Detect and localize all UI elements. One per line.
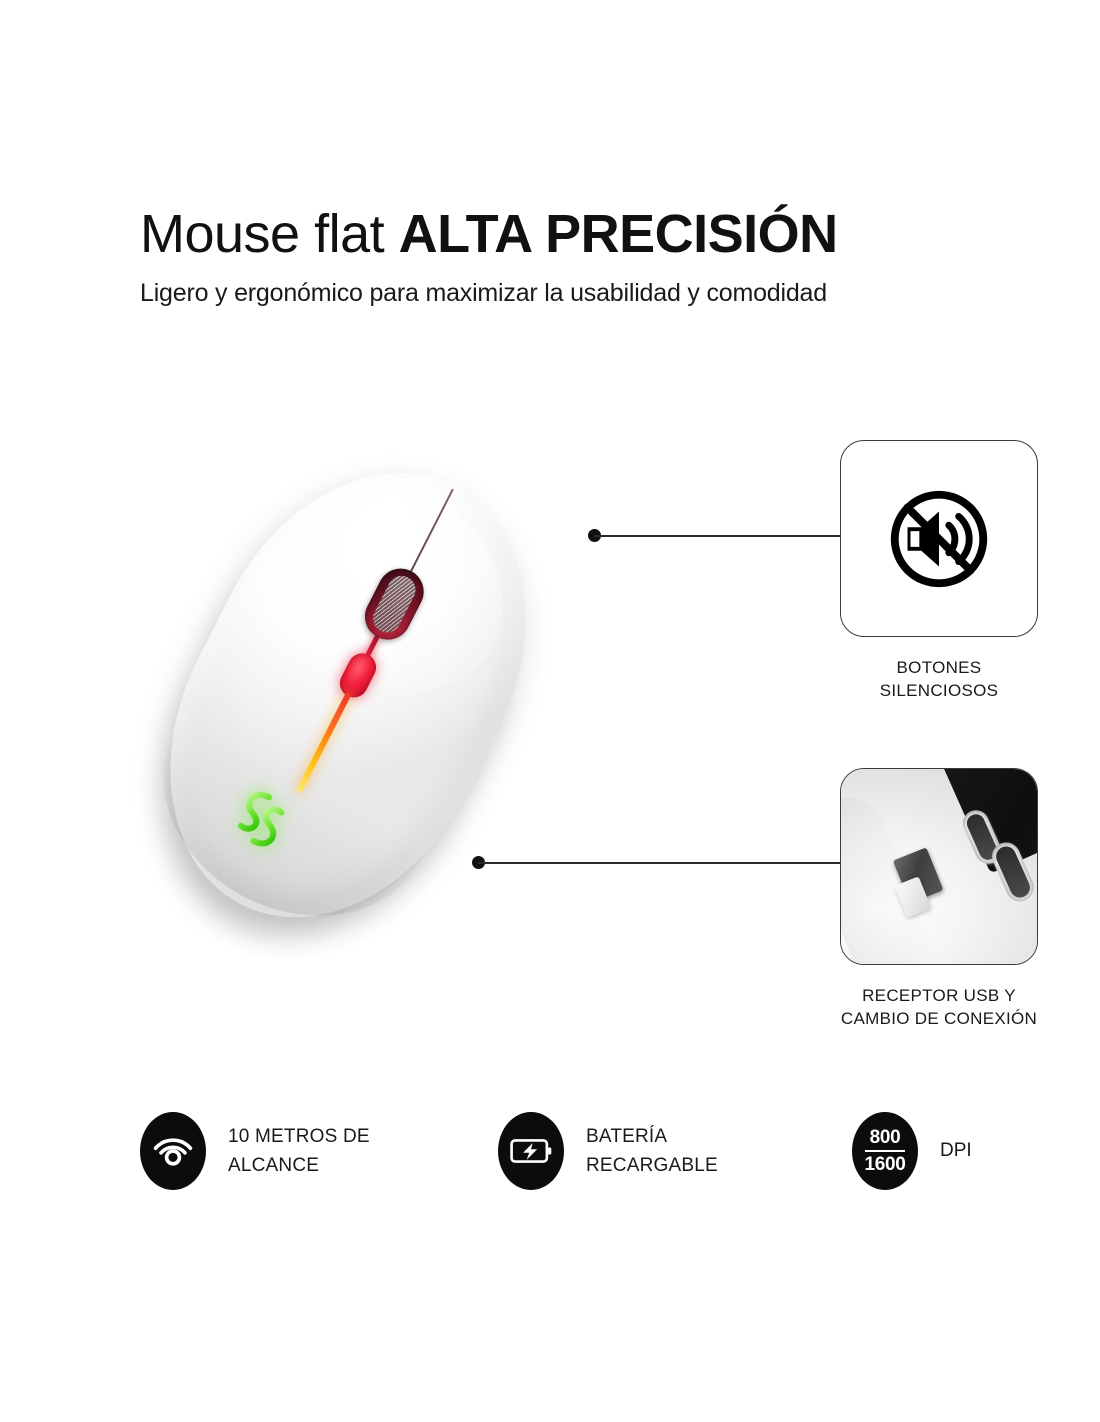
feature-dpi: 800 1600 DPI [852, 1112, 972, 1190]
product-image [150, 430, 650, 990]
feature-range-label: 10 METROS DE ALCANCE [228, 1122, 370, 1181]
page-title: Mouse flat ALTA PRECISIÓN [140, 206, 1000, 263]
dpi-high-value: 1600 [864, 1155, 905, 1174]
feature-range: 10 METROS DE ALCANCE [140, 1112, 370, 1190]
callout-label-1: BOTONES SILENCIOSOS [840, 657, 1038, 703]
rechargeable-battery-icon [498, 1112, 564, 1190]
feature-dpi-label: DPI [940, 1140, 972, 1162]
feature-battery: BATERÍA RECARGABLE [498, 1112, 718, 1190]
usb-receiver-photo: CE X ⌀ FCC ROHS [841, 769, 1037, 964]
callout-connector-line-1 [594, 535, 842, 537]
callout-connector-line-2 [478, 862, 842, 864]
page-header: Mouse flat ALTA PRECISIÓN Ligero y ergon… [140, 206, 1000, 308]
page-subtitle: Ligero y ergonómico para maximizar la us… [140, 279, 1000, 308]
feature-row: 10 METROS DE ALCANCE BATERÍA RECARGABLE … [0, 1100, 1100, 1230]
regulatory-marks: CE X ⌀ FCC ROHS [950, 768, 1038, 773]
page-title-light: Mouse flat [140, 204, 399, 264]
callout-box-1 [840, 440, 1038, 637]
callout-label-2: RECEPTOR USB Y CAMBIO DE CONEXIÓN [840, 985, 1038, 1031]
wireless-signal-icon [140, 1112, 206, 1190]
dpi-low-value: 800 [870, 1128, 901, 1147]
dpi-divider [865, 1150, 905, 1152]
callout-usb-receiver: CE X ⌀ FCC ROHS RECEPTOR USB Y CAMBIO DE… [840, 768, 1038, 1031]
callout-silent-buttons: BOTONES SILENCIOSOS [840, 440, 1038, 703]
muted-speaker-icon [841, 441, 1037, 636]
mouse-illustration [108, 418, 589, 973]
page-title-bold: ALTA PRECISIÓN [399, 204, 838, 264]
dpi-badge-icon: 800 1600 [852, 1112, 918, 1190]
feature-battery-label: BATERÍA RECARGABLE [586, 1122, 718, 1181]
callout-box-2: CE X ⌀ FCC ROHS [840, 768, 1038, 965]
